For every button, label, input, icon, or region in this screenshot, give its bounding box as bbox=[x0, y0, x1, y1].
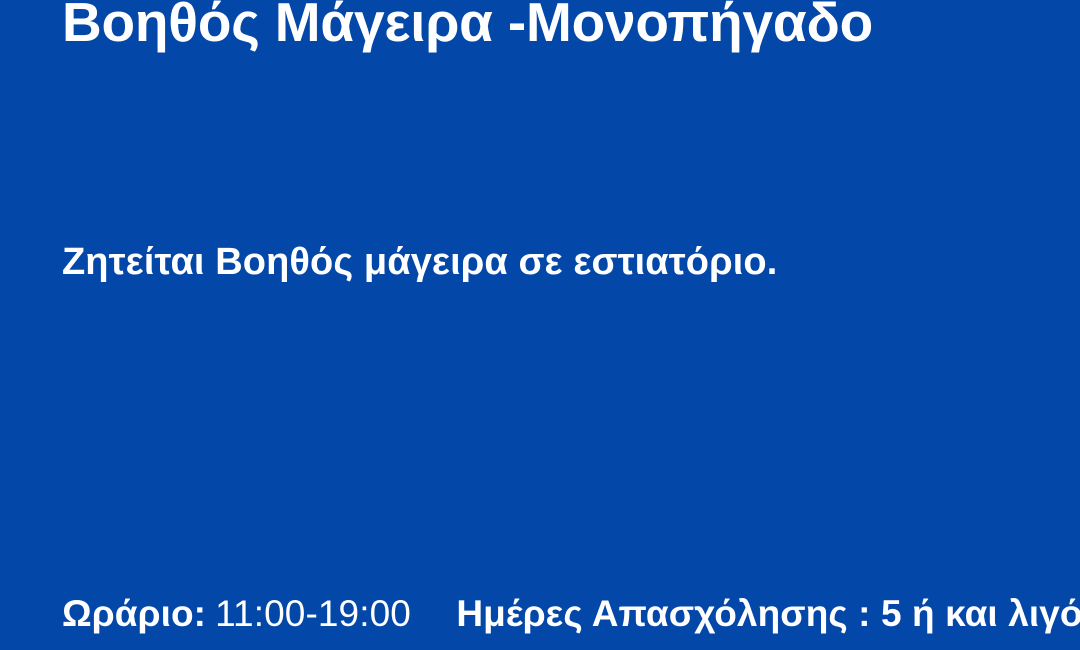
working-days-text: Ημέρες Απασχόλησης : 5 ή και λιγότερες bbox=[456, 593, 1080, 634]
working-hours-group: Ωράριο:11:00-19:00 bbox=[62, 591, 411, 637]
slide-body-row: Ζητείται Βοηθός μάγειρα σε εστιατόριο. bbox=[62, 239, 1060, 285]
working-days-group: Ημέρες Απασχόλησης : 5 ή και λιγότερες bbox=[456, 591, 1080, 637]
slide-details-row: Ωράριο:11:00-19:00 Ημέρες Απασχόλησης : … bbox=[62, 591, 1070, 637]
job-description-text: Ζητείται Βοηθός μάγειρα σε εστιατόριο. bbox=[62, 239, 777, 285]
working-hours-value: 11:00-19:00 bbox=[215, 593, 411, 634]
working-hours-label: Ωράριο: bbox=[62, 593, 206, 634]
slide-title-row: Βοηθός Μάγειρα -Μονοπήγαδο bbox=[62, 0, 1060, 53]
job-posting-slide: Βοηθός Μάγειρα -Μονοπήγαδο Ζητείται Βοηθ… bbox=[0, 0, 1080, 650]
page-title: Βοηθός Μάγειρα -Μονοπήγαδο bbox=[62, 0, 873, 53]
